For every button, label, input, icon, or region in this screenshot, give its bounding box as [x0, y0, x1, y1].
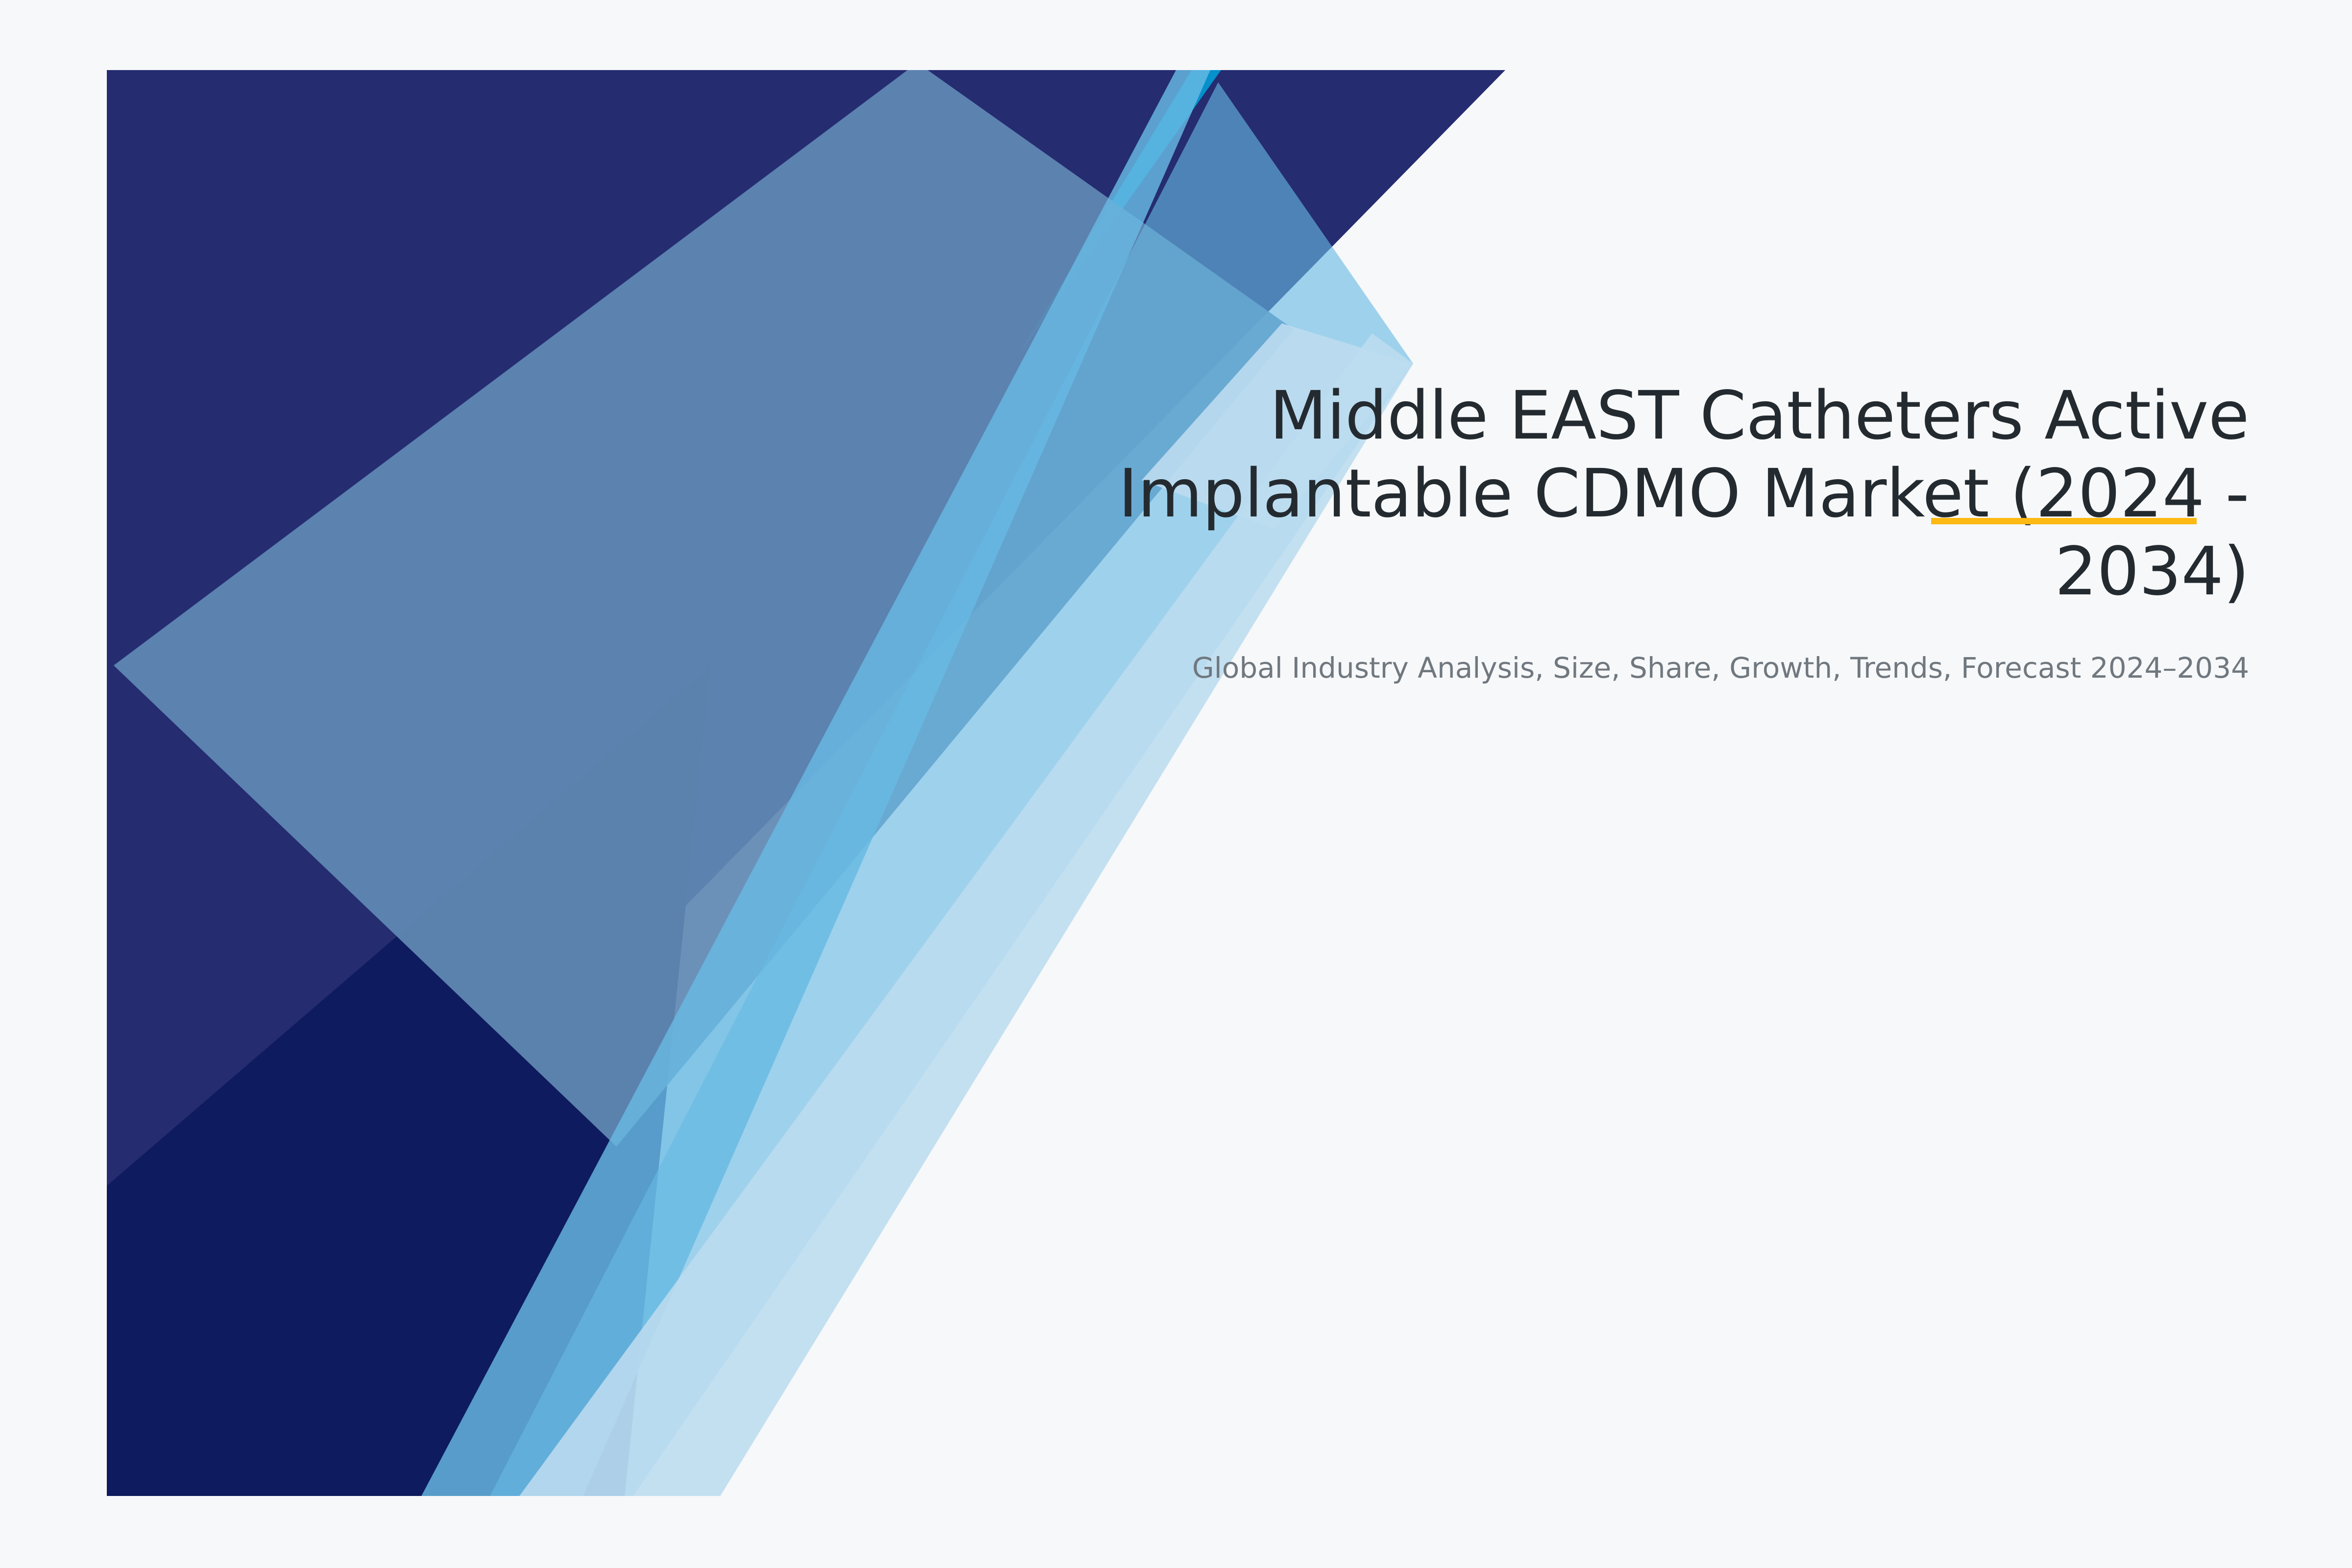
title-highlight-underline — [1931, 518, 2197, 524]
slide-root: Middle EAST Catheters Active Implantable… — [0, 0, 2352, 1568]
shape-cyan-spike — [1017, 70, 1221, 358]
title-wrapper: Middle EAST Catheters Active Implantable… — [931, 377, 2249, 611]
shape-cyan-field — [107, 70, 926, 519]
shape-navy-wedge — [107, 70, 1505, 1496]
page-title: Middle EAST Catheters Active Implantable… — [931, 377, 2249, 611]
shape-sky-ribbon-2 — [490, 82, 1413, 1496]
decorative-artwork — [0, 0, 2352, 1568]
shape-dark-navy-sweep — [107, 666, 710, 1496]
title-block: Middle EAST Catheters Active Implantable… — [931, 377, 2249, 687]
shape-sky-ribbon-1 — [421, 70, 1210, 1496]
page-subtitle: Global Industry Analysis, Size, Share, G… — [931, 649, 2249, 687]
